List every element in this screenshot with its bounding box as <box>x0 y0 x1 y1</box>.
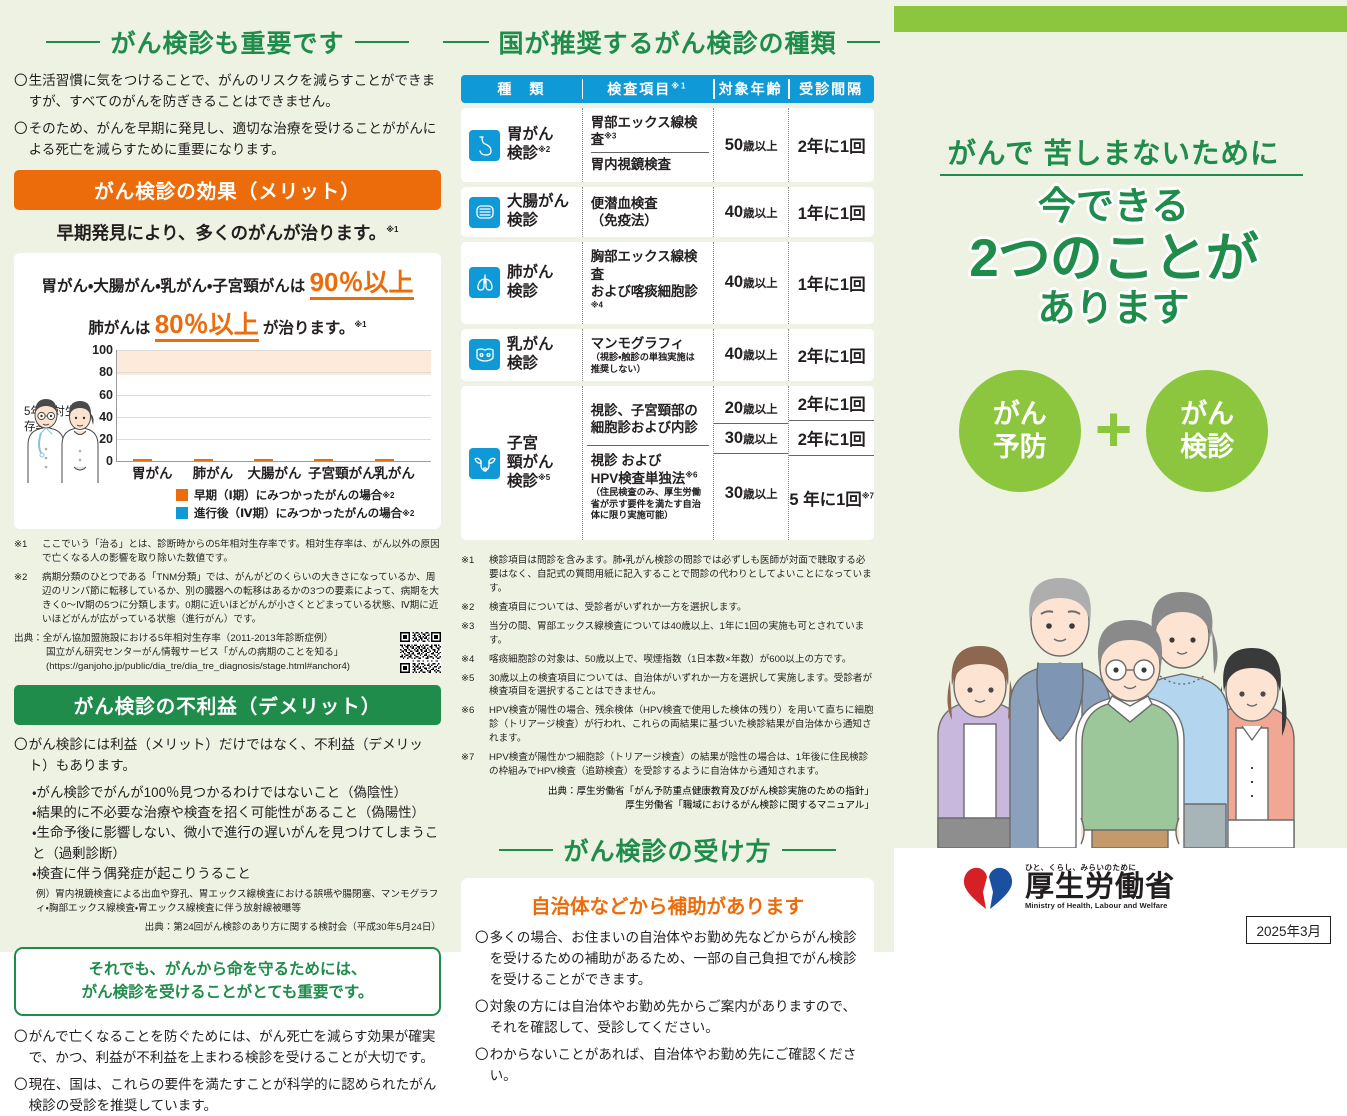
howto-section-title: がん検診の受け方 <box>563 832 771 868</box>
mhlw-name: 厚生労働省 <box>1025 872 1175 902</box>
note-text: 病期分類のひとつである「TNM分類」では、がんがどのくらいの大きさになっているか… <box>42 571 441 627</box>
mhlw-name-en: Ministry of Health, Labour and Welfare <box>1025 902 1175 910</box>
demerit-list: ・がん検診でがんが100％見つかるわけではないこと（偽陰性） ・結果的に不必要な… <box>32 783 441 885</box>
bubble-prevention: がん 予防 <box>959 370 1081 492</box>
howto-card-title: 自治体などから補助があります <box>475 890 860 919</box>
bar-group-0 <box>127 459 179 461</box>
mhlw-logo-text: ひと、くらし、みらいのために 厚生労働省 Ministry of Health,… <box>1025 864 1175 910</box>
stomach-icon <box>469 130 500 161</box>
exam-item: 視診、子宮頸部の細胞診および内診 <box>587 396 709 443</box>
merit-lead-sup: ※1 <box>386 225 398 234</box>
howto-text-2: 対象の方には自治体やお勤め先からご案内がありますので、それを確認して、受診してく… <box>490 996 860 1038</box>
closing-text-1: がんで亡くなることを防ぐためには、がん死亡を減らす効果が確実で、かつ、利益が不利… <box>29 1026 441 1068</box>
headline-line-3: あります <box>880 288 1347 331</box>
target-age: 40歳以上 <box>725 273 778 291</box>
ytick-100: 100 <box>92 343 113 357</box>
howto-card: 自治体などから補助があります 〇 多くの場合、お住まいの自治体やお勤め先などから… <box>461 878 874 1106</box>
note-label: ※7 <box>461 751 489 779</box>
chart-headline-2-sup: ※1 <box>354 320 366 329</box>
ytick-40: 40 <box>99 410 113 424</box>
interval: 1年に1回 <box>798 276 866 294</box>
source-line-1: 出典：全がん協加盟施設における5年相対生存率（2011-2013年診断症例） <box>14 633 333 644</box>
th-item-sup: ※1 <box>671 81 687 90</box>
legend-swatch-early <box>176 489 188 501</box>
mid-note: ※530歳以上の検査項目については、自治体がいずれか一方を選択して実施します。受… <box>461 672 874 700</box>
middle-column: 国が推奨するがん検診の種類 種 類 検査項目※1 対象年齢 受診間隔 胃がん検診… <box>455 0 880 952</box>
bar-early-肺がん <box>194 459 213 461</box>
right-headline: 今できる 2つのことが あります <box>880 186 1347 330</box>
chart-headline-2-post: が治ります。 <box>259 320 355 337</box>
closing-paragraph-1: 〇 がんで亡くなることを防ぐためには、がん死亡を減らす効果が確実で、かつ、利益が… <box>14 1026 441 1068</box>
headline-line-1: 今できる <box>880 186 1347 229</box>
table-row: 胃がん検診※2胃部エックス線検査※3胃内視鏡検査50歳以上2年に1回 <box>461 108 874 182</box>
note-label: ※1 <box>461 554 489 596</box>
bar-early-大腸がん <box>254 459 273 461</box>
legend-sup-late: ※2 <box>402 509 414 518</box>
table-body: 胃がん検診※2胃部エックス線検査※3胃内視鏡検査50歳以上2年に1回大腸がん検診… <box>461 108 874 540</box>
left-column: がん検診も重要です 〇 生活習慣に気をつけることで、がんのリスクを減らすことがで… <box>0 0 455 952</box>
note-label: ※4 <box>461 653 489 667</box>
bullet-circle: 〇 <box>14 1074 28 1116</box>
bubble-screening: がん 検診 <box>1146 370 1268 492</box>
note-label: ※5 <box>461 672 489 700</box>
howto-text-3: わからないことがあれば、自治体やお勤め先にご確認ください。 <box>490 1044 860 1086</box>
th-type: 種 類 <box>461 75 582 103</box>
bar-group-3 <box>308 459 360 461</box>
screening-name: 子宮頸がん検診※5 <box>507 435 554 492</box>
screening-name: 乳がん検診 <box>507 336 554 374</box>
note-text: HPV検査が陽性かつ細胞診（トリアージ検査）の結果が陰性の場合は、1年後に住民検… <box>489 751 874 779</box>
bar-early-胃がん <box>133 459 152 461</box>
callout-box: それでも、がんから命を守るためには、 がん検診を受けることがとても重要です。 <box>14 947 441 1016</box>
callout-line-1: それでも、がんから命を守るためには、 <box>22 958 433 981</box>
mid-note: ※7HPV検査が陽性かつ細胞診（トリアージ検査）の結果が陰性の場合は、1年後に住… <box>461 751 874 779</box>
ytick-20: 20 <box>99 432 113 446</box>
lungs-icon <box>469 267 500 298</box>
bullet-circle: 〇 <box>14 734 28 776</box>
left-source: 出典：全がん協加盟施設における5年相対生存率（2011-2013年診断症例） 国… <box>14 632 441 674</box>
publication-date: 2025年3月 <box>1246 916 1331 944</box>
chart-plot-area: 100 80 60 40 20 0 <box>116 350 431 462</box>
survival-chart-card: 胃がん・大腸がん・乳がん・子宮頸がんは 90％以上 肺がんは 80％以上 が治り… <box>14 253 441 529</box>
table-row: 肺がん検診胸部エックス線検査および喀痰細胞診※440歳以上1年に1回 <box>461 242 874 324</box>
note-label: ※3 <box>461 620 489 648</box>
closing-paragraph-2: 〇 現在、国は、これらの要件を満たすことが科学的に認められたがん検診の受診を推奨… <box>14 1074 441 1116</box>
demerit-example: 例）胃内視鏡検査による出血や穿孔、胃エックス線検査における誤嚥や腸閉塞、マンモグ… <box>36 888 441 916</box>
left-source-text: 出典：全がん協加盟施設における5年相対生存率（2011-2013年診断症例） 国… <box>14 632 396 674</box>
family-illustration <box>880 518 1347 848</box>
chart-headline-1: 胃がん・大腸がん・乳がん・子宮頸がんは 90％以上 <box>24 263 431 303</box>
bullet-circle: 〇 <box>475 927 489 990</box>
mid-section-title: 国が推奨するがん検診の種類 <box>499 24 837 60</box>
legend-swatch-late <box>176 507 188 519</box>
right-subtitle: がんで 苦しまないために <box>880 131 1347 172</box>
th-item: 検査項目※1 <box>582 75 713 103</box>
legend-item-early: 早期（Ⅰ期）にみつかったがんの場合※2 <box>176 487 431 503</box>
chart-plot: 100 80 60 40 20 0 胃がん肺がん大腸がん子宮頸がん乳がん 早期（… <box>84 350 431 521</box>
merit-lead-text: 早期発見により、多くのがんが治ります。 <box>57 223 387 243</box>
note-label: ※2 <box>14 571 42 627</box>
interval: 1年に1回 <box>798 205 866 223</box>
bubble-prevention-line-2: 予防 <box>993 431 1047 464</box>
target-age: 40歳以上 <box>725 345 778 363</box>
interval: 2年に1回 <box>798 138 866 156</box>
heading-rule-left <box>443 41 489 43</box>
bar-early-乳がん <box>375 459 394 461</box>
chart-headline-1-pre: 胃がん・大腸がん・乳がん・子宮頸がんは <box>41 278 309 295</box>
interval: 2年に1回 <box>789 420 874 455</box>
lungs-icon <box>473 271 497 295</box>
bullet-circle: 〇 <box>475 1044 489 1086</box>
chart-pct-80-unit: ％以上 <box>184 311 259 339</box>
exam-item: 胃内視鏡検査 <box>591 152 709 173</box>
source-line-3: (https://ganjoho.jp/public/dia_tre/dia_t… <box>14 661 350 672</box>
heading-rule-left <box>46 41 100 43</box>
bullet-circle: 〇 <box>475 996 489 1038</box>
merit-lead: 早期発見により、多くのがんが治ります。※1 <box>14 220 441 245</box>
interval: 2年に1回 <box>789 386 874 420</box>
table-row: 大腸がん検診便潜血検査（免疫法）40歳以上1年に1回 <box>461 187 874 237</box>
right-column: がんで 苦しまないために 今できる 2つのことが あります がん 予防 + がん… <box>880 0 1347 952</box>
demerit-intro-text: がん検診には利益（メリット）だけではなく、不利益（デメリット）もあります。 <box>29 734 441 776</box>
uterus-icon <box>469 448 500 479</box>
headline-line-2: 2つのことが <box>880 229 1347 288</box>
note-label: ※6 <box>461 704 489 746</box>
exam-item: マンモグラフィ（視診・触診の単独実施は推奨しない） <box>591 335 709 375</box>
legend-sup-early: ※2 <box>382 491 394 500</box>
bullet-circle: 〇 <box>14 1026 28 1068</box>
uterus-icon <box>473 451 497 475</box>
mid-note: ※3当分の間、胃部エックス線検査については40歳以上、1年に1回の実施も可とされ… <box>461 620 874 648</box>
xlabel-3: 子宮頸がん <box>308 462 360 482</box>
left-section-title: がん検診も重要です <box>110 24 344 60</box>
chart-area: 5年相対生存率 <box>24 350 431 521</box>
heading-rule-right <box>355 41 409 43</box>
mid-note: ※4喀痰細胞診の対象は、50歳以上で、喫煙指数（1日本数×年数）が600以上の方… <box>461 653 874 667</box>
bubble-screening-line-1: がん <box>1180 398 1234 431</box>
stomach-icon <box>473 133 497 157</box>
closing-text-2: 現在、国は、これらの要件を満たすことが科学的に認められたがん検診の受診を推奨して… <box>29 1074 441 1116</box>
left-notes: ※1 ここでいう「治る」とは、診断時からの5年相対生存率です。相対生存率は、がん… <box>14 538 441 673</box>
exam-item: 胸部エックス線検査および喀痰細胞診※4 <box>591 248 709 318</box>
chart-pct-90: 90 <box>310 267 339 297</box>
table-source-line-1: 出典：厚生労働省「がん予防重点健康教育及びがん検診実施のための指針」 <box>461 785 874 799</box>
heading-rule-left <box>499 849 553 851</box>
target-age: 50歳以上 <box>725 136 778 154</box>
demerit-banner: がん検診の不利益（デメリット） <box>14 685 441 725</box>
exam-item: 便潜血検査（免疫法） <box>591 195 709 230</box>
top-green-bar <box>894 6 1347 32</box>
bar-group-4 <box>369 459 421 461</box>
howto-item-1: 〇 多くの場合、お住まいの自治体やお勤め先などからがん検診を受けるための補助があ… <box>475 927 860 990</box>
intestine-icon <box>473 200 497 224</box>
xlabel-2: 大腸がん <box>247 462 299 482</box>
note-text: 30歳以上の検査項目については、自治体がいずれか一方を選択して実施します。受診者… <box>489 672 874 700</box>
mid-note: ※1検診項目は問診を含みます。肺・乳がん検診の問診では必ずしも医師が対面で聴取す… <box>461 554 874 596</box>
legend-label-late: 進行後（Ⅳ期）にみつかったがんの場合 <box>194 505 402 521</box>
merit-banner: がん検診の効果（メリット） <box>14 170 441 210</box>
chart-pct-80: 80 <box>155 309 184 339</box>
bar-group-1 <box>188 459 240 461</box>
screening-name: 胃がん検診※2 <box>507 126 554 164</box>
plus-icon: + <box>1095 397 1132 461</box>
table-source-line-2: 厚生労働省「職域におけるがん検診に関するマニュアル」 <box>461 799 874 813</box>
xlabel-4: 乳がん <box>369 462 421 482</box>
note-label: ※2 <box>461 601 489 615</box>
screening-name: 肺がん検診 <box>507 264 554 302</box>
qr-code-icon[interactable] <box>400 632 441 673</box>
note-text: 喀痰細胞診の対象は、50歳以上で、喫煙指数（1日本数×年数）が600以上の方です… <box>489 653 874 667</box>
bubble-screening-line-2: 検診 <box>1180 431 1234 464</box>
interval: 2年に1回 <box>798 348 866 366</box>
howto-item-3: 〇 わからないことがあれば、自治体やお勤め先にご確認ください。 <box>475 1044 860 1086</box>
howto-section-heading: がん検診の受け方 <box>461 832 874 868</box>
note-text: HPV検査が陽性の場合、残余検体（HPV検査で使用した検体の残り）を用いて直ちに… <box>489 704 874 746</box>
mhlw-mark-icon <box>960 862 1016 912</box>
howto-item-2: 〇 対象の方には自治体やお勤め先からご案内がありますので、それを確認して、受診し… <box>475 996 860 1038</box>
legend-label-early: 早期（Ⅰ期）にみつかったがんの場合 <box>194 487 382 503</box>
interval: 5 年に1回※7 <box>789 455 874 540</box>
th-age: 対象年齢 <box>713 75 788 103</box>
left-note-1: ※1 ここでいう「治る」とは、診断時からの5年相対生存率です。相対生存率は、がん… <box>14 538 441 566</box>
target-age: 40歳以上 <box>725 203 778 221</box>
demerit-item-4: ・検査に伴う偶発症が起こりうること <box>32 864 441 884</box>
callout-line-2: がん検診を受けることがとても重要です。 <box>22 981 433 1004</box>
chart-headline-2: 肺がんは 80％以上 が治ります。※1 <box>24 305 431 345</box>
demerit-intro: 〇 がん検診には利益（メリット）だけではなく、不利益（デメリット）もあります。 <box>14 734 441 776</box>
mhlw-logo: ひと、くらし、みらいのために 厚生労働省 Ministry of Health,… <box>960 862 1175 912</box>
demerit-item-3: ・生命予後に影響しない、微小で進行の遅いがんを見つけてしまうこと（過剰診断） <box>32 823 441 864</box>
ytick-80: 80 <box>99 365 113 379</box>
table-row: 乳がん検診マンモグラフィ（視診・触診の単独実施は推奨しない）40歳以上2年に1回 <box>461 329 874 381</box>
note-text: 検診項目は問診を含みます。肺・乳がん検診の問診では必ずしも医師が対面で聴取する必… <box>489 554 874 596</box>
target-age: 30歳以上 <box>714 453 788 533</box>
xlabel-0: 胃がん <box>126 462 178 482</box>
intro-text-2: そのため、がんを早期に発見し、適切な治療を受けることががんによる死亡を減らすため… <box>29 118 441 160</box>
ytick-0: 0 <box>106 454 113 468</box>
xlabel-1: 肺がん <box>187 462 239 482</box>
bullet-circle: 〇 <box>14 118 28 160</box>
chart-pct-90-unit: ％以上 <box>339 269 414 297</box>
mid-note: ※6HPV検査が陽性の場合、残余検体（HPV検査で使用した検体の残り）を用いて直… <box>461 704 874 746</box>
chart-legend: 早期（Ⅰ期）にみつかったがんの場合※2 進行後（Ⅳ期）にみつかったがんの場合※2 <box>84 487 431 521</box>
note-text: 検査項目については、受診者がいずれか一方を選択します。 <box>489 601 874 615</box>
howto-text-1: 多くの場合、お住まいの自治体やお勤め先などからがん検診を受けるための補助があるた… <box>490 927 860 990</box>
screening-types-table: 種 類 検査項目※1 対象年齢 受診間隔 胃がん検診※2胃部エックス線検査※3胃… <box>461 70 874 545</box>
target-age: 20歳以上 <box>714 394 788 423</box>
breast-icon <box>469 339 500 370</box>
mid-section-heading: 国が推奨するがん検診の種類 <box>461 24 874 60</box>
note-text: ここでいう「治る」とは、診断時からの5年相対生存率です。相対生存率は、がん以外の… <box>42 538 441 566</box>
screening-name: 大腸がん検診 <box>507 193 569 231</box>
table-row-cervix: 子宮頸がん検診※5視診、子宮頸部の細胞診および内診視診 およびHPV検査単独法※… <box>461 386 874 540</box>
intro-text-1: 生活習慣に気をつけることで、がんのリスクを減らすことができますが、すべてのがんを… <box>29 70 441 112</box>
note-label: ※1 <box>14 538 42 566</box>
demerit-item-1: ・がん検診でがんが100％見つかるわけではないこと（偽陰性） <box>32 783 441 803</box>
bubble-prevention-line-1: がん <box>993 398 1047 431</box>
target-age: 30歳以上 <box>714 423 788 453</box>
right-underline <box>940 174 1303 176</box>
bullet-circle: 〇 <box>14 70 28 112</box>
left-note-2: ※2 病期分類のひとつである「TNM分類」では、がんがどのくらいの大きさになって… <box>14 571 441 627</box>
heading-rule-right <box>782 849 836 851</box>
ytick-60: 60 <box>99 388 113 402</box>
chart-xlabels: 胃がん肺がん大腸がん子宮頸がん乳がん <box>116 462 431 482</box>
demerit-item-2: ・結果的に不必要な治療や検査を招く可能性があること（偽陽性） <box>32 803 441 823</box>
chart-headline-2-pre: 肺がんは <box>88 320 154 337</box>
bar-group-2 <box>248 459 300 461</box>
breast-icon <box>473 343 497 367</box>
source-line-2: 国立がん研究センターがん情報サービス「がんの病期のことを知る」 <box>14 647 343 658</box>
th-freq: 受診間隔 <box>788 75 874 103</box>
table-header-row: 種 類 検査項目※1 対象年齢 受診間隔 <box>461 75 874 103</box>
demerit-source: 出典：第24回がん検診のあり方に関する検討会（平成30年5月24日） <box>14 919 441 933</box>
two-actions-bubbles: がん 予防 + がん 検診 <box>880 370 1347 492</box>
intro-paragraph-1: 〇 生活習慣に気をつけることで、がんのリスクを減らすことができますが、すべてのが… <box>14 70 441 112</box>
mid-note: ※2検査項目については、受診者がいずれか一方を選択します。 <box>461 601 874 615</box>
note-text: 当分の間、胃部エックス線検査については40歳以上、1年に1回の実施も可とされてい… <box>489 620 874 648</box>
mid-notes: ※1検診項目は問診を含みます。肺・乳がん検診の問診では必ずしも医師が対面で聴取す… <box>461 554 874 779</box>
chart-bars <box>117 350 431 461</box>
intestine-icon <box>469 197 500 228</box>
left-section-heading: がん検診も重要です <box>14 24 441 60</box>
intro-paragraph-2: 〇 そのため、がんを早期に発見し、適切な治療を受けることががんによる死亡を減らす… <box>14 118 441 160</box>
bar-early-子宮頸がん <box>314 459 333 461</box>
table-source: 出典：厚生労働省「がん予防重点健康教育及びがん検診実施のための指針」 厚生労働省… <box>461 785 874 814</box>
pamphlet-page: がん検診も重要です 〇 生活習慣に気をつけることで、がんのリスクを減らすことがで… <box>0 0 1347 952</box>
legend-item-late: 進行後（Ⅳ期）にみつかったがんの場合※2 <box>176 505 431 521</box>
exam-item: 視診 およびHPV検査単独法※6（住民検査のみ、厚生労働省が示す要件を満たす自治… <box>587 445 709 527</box>
exam-item: 胃部エックス線検査※3 <box>591 114 709 149</box>
